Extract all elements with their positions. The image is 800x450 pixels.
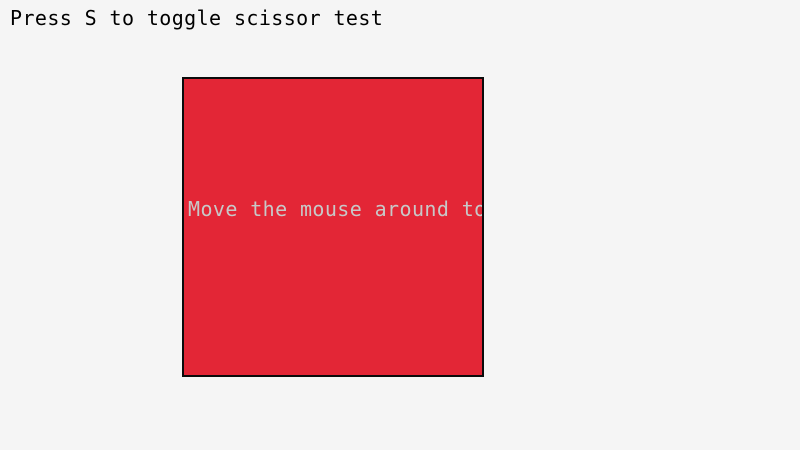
clipped-instruction-text: Move the mouse around to reveal the scis…: [188, 198, 484, 220]
scissor-rectangle[interactable]: Move the mouse around to reveal the scis…: [182, 77, 484, 377]
scissor-toggle-hint: Press S to toggle scissor test: [10, 7, 383, 29]
app-window: Press S to toggle scissor test Move the …: [0, 0, 800, 450]
